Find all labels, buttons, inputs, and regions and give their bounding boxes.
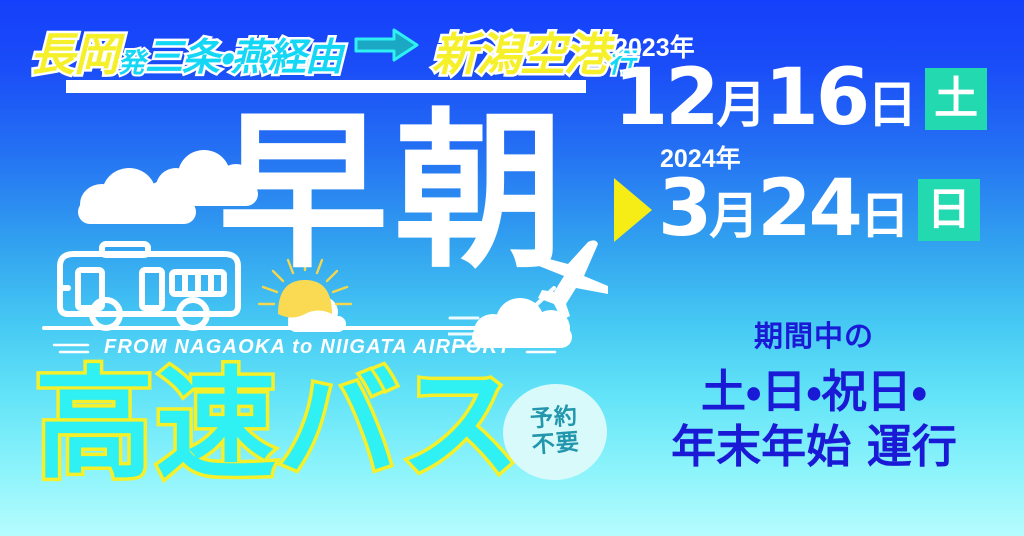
ground-line	[42, 326, 497, 330]
route-underline	[66, 80, 586, 93]
start-day-of-week-badge: 土	[925, 68, 987, 130]
operation-notice: 期間中の 土・日・祝日・ 年末年始 運行	[614, 322, 1014, 475]
route-header: 長岡 発 三条・燕経由 新潟空港 行	[30, 32, 590, 94]
start-month-unit: 月	[717, 80, 765, 130]
schedule-block: 2023年 12 月 16 日 土 2024年 3 月 24 日 日	[614, 36, 1014, 252]
route-origin-suffix: 発	[118, 50, 145, 77]
schedule-end: 2024年 3 月 24 日 日	[614, 147, 1014, 246]
tagline-rule-left	[52, 340, 92, 356]
triangle-right-icon	[614, 178, 652, 242]
no-reservation-line2: 不要	[531, 430, 581, 459]
start-month: 12	[614, 63, 717, 135]
route-destination: 新潟空港	[432, 32, 608, 77]
subheadline: 高速バス	[34, 366, 522, 486]
end-month: 3	[658, 174, 709, 246]
start-day-unit: 日	[867, 80, 915, 130]
notice-line2: 年末年始 運行	[614, 420, 1014, 475]
promo-banner: 長岡 発 三条・燕経由 新潟空港 行	[0, 0, 1024, 536]
cloud-icon	[72, 162, 222, 222]
start-day: 16	[765, 63, 868, 135]
end-month-unit: 月	[709, 191, 757, 241]
route-via: 三条・燕経由	[145, 38, 342, 76]
route-origin: 長岡	[30, 32, 118, 77]
tagline-rule-right	[523, 340, 563, 356]
end-day-of-week-badge: 日	[918, 179, 980, 241]
notice-lead: 期間中の	[614, 322, 1014, 351]
end-day: 24	[757, 174, 860, 246]
end-day-unit: 日	[860, 191, 908, 241]
schedule-start: 2023年 12 月 16 日 土	[614, 36, 1014, 135]
right-arrow-icon	[354, 28, 420, 66]
page-title: 早朝	[218, 108, 570, 278]
notice-line1: 土・日・祝日・	[614, 365, 1014, 420]
